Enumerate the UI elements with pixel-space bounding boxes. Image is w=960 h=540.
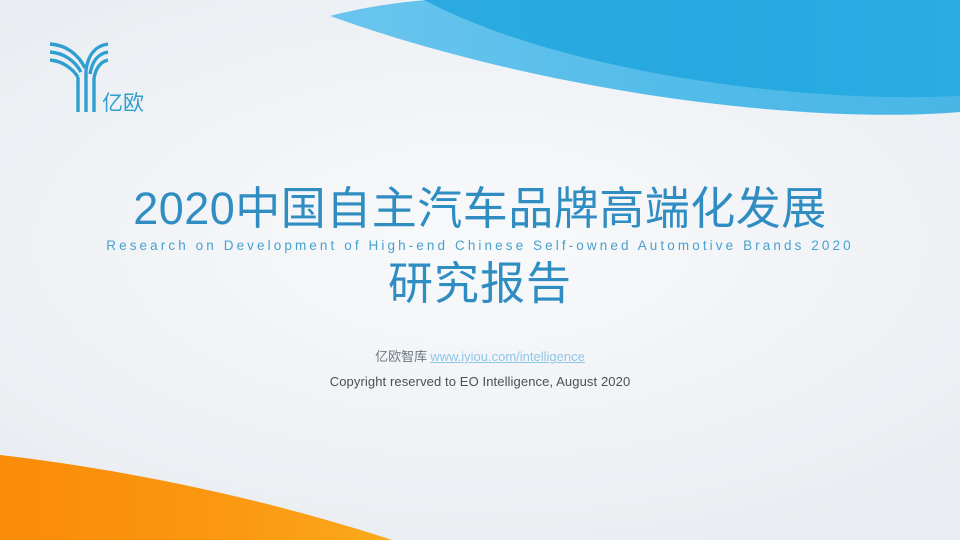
page-title-line2: 研究报告 <box>0 260 960 307</box>
title-block: 2020中国自主汽车品牌高端化发展 Research on Developmen… <box>0 186 960 307</box>
brand-logo-text: 亿欧 <box>102 91 144 115</box>
credit-org: 亿欧智库 <box>375 349 427 364</box>
wave-blue-primary <box>424 0 960 97</box>
wave-blue-secondary <box>330 0 960 115</box>
credit-line: 亿欧智库www.iyiou.com/intelligence <box>0 346 960 365</box>
brand-logo[interactable]: 亿欧 <box>44 34 164 120</box>
slide-canvas: 亿欧 2020中国自主汽车品牌高端化发展 Research on Develop… <box>0 0 960 540</box>
page-subtitle-english: Research on Development of High-end Chin… <box>0 239 960 254</box>
page-title: 2020中国自主汽车品牌高端化发展 <box>0 186 960 232</box>
credit-link[interactable]: www.iyiou.com/intelligence <box>430 349 585 364</box>
wave-orange <box>0 455 392 540</box>
copyright-text: Copyright reserved to EO Intelligence, A… <box>0 374 960 389</box>
